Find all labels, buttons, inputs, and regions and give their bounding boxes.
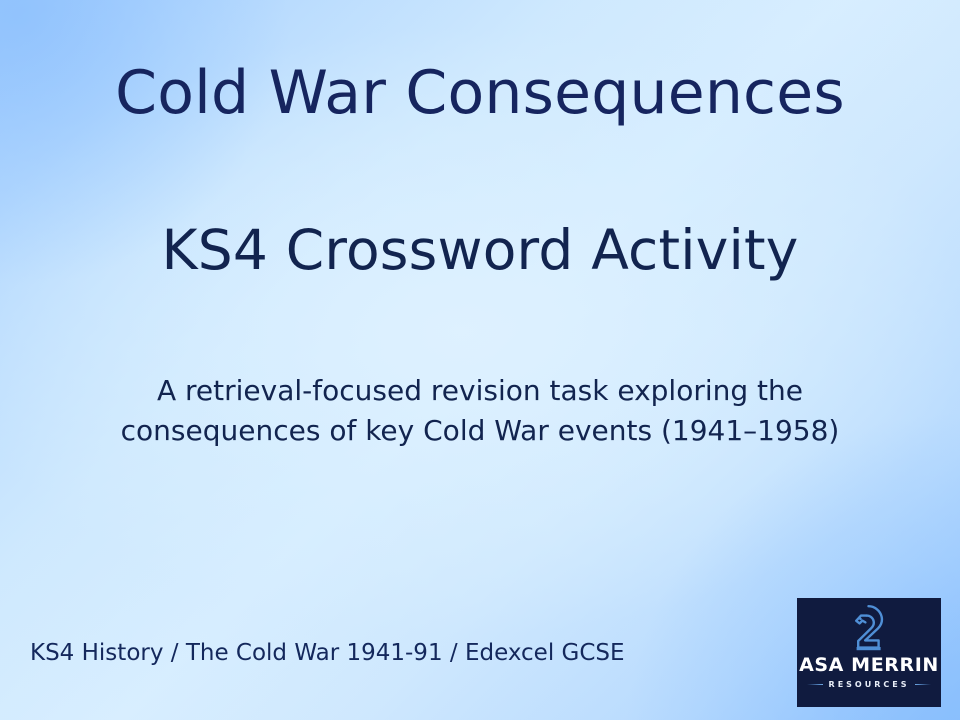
chess-knight-icon [847, 602, 891, 654]
slide-subtitle: KS4 Crossword Activity [0, 221, 960, 279]
brand-rule-left [807, 684, 823, 685]
brand-tagline-row: RESOURCES [807, 680, 931, 689]
brand-tagline: RESOURCES [823, 680, 916, 689]
chess-knight-base [857, 647, 881, 650]
slide-footer-course-line: KS4 History / The Cold War 1941-91 / Ede… [30, 639, 625, 668]
slide-content: Cold War Consequences KS4 Crossword Acti… [0, 0, 960, 720]
brand-logo: ASA MERRIN RESOURCES [797, 598, 941, 707]
brand-rule-right [915, 684, 931, 685]
slide: Cold War Consequences KS4 Crossword Acti… [0, 0, 960, 720]
brand-wordmark: ASA MERRIN [799, 656, 939, 675]
slide-title: Cold War Consequences [0, 62, 960, 126]
slide-description: A retrieval-focused revision task explor… [60, 371, 900, 451]
